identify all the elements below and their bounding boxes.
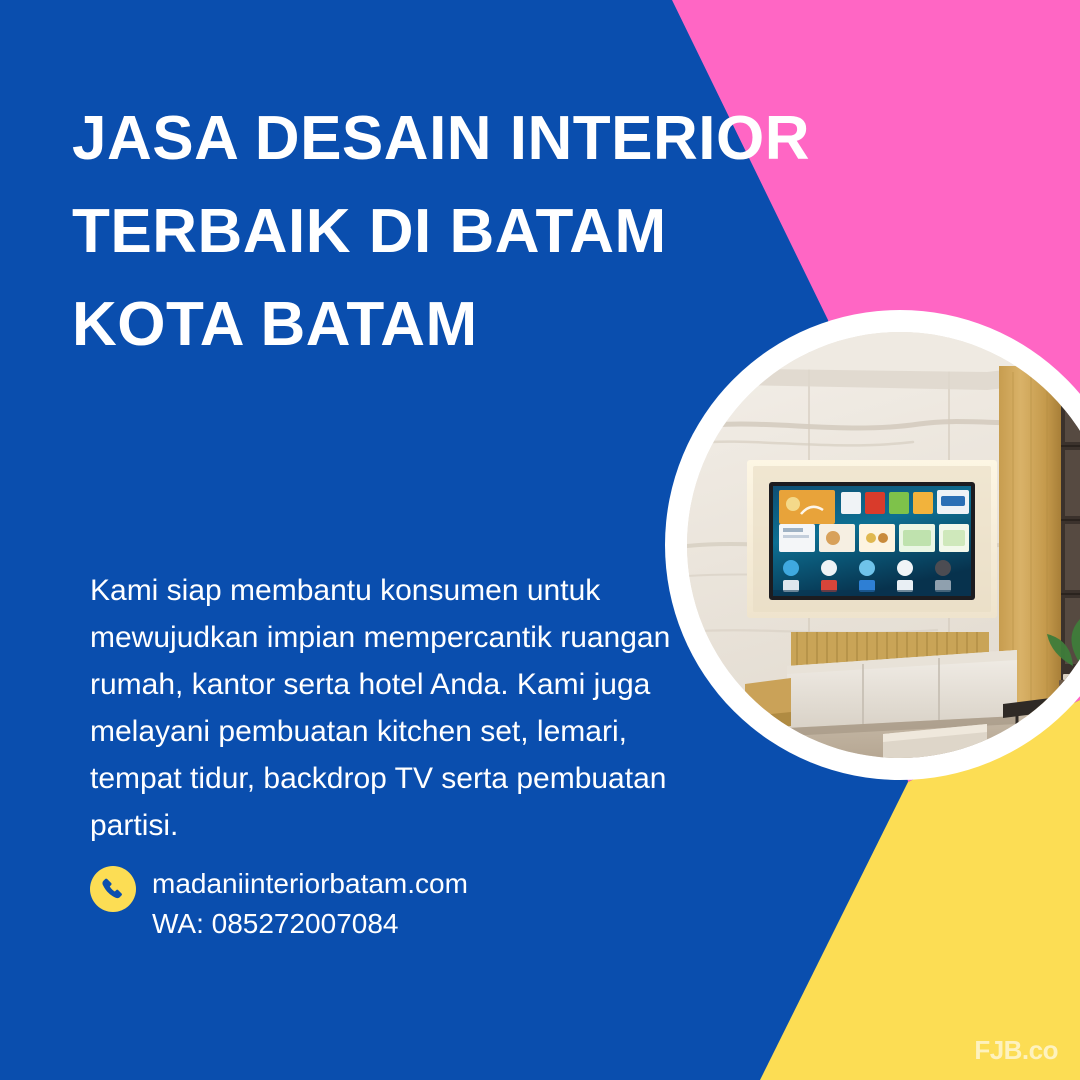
headline: JASA DESAIN INTERIOR TERBAIK DI BATAM KO… <box>72 92 832 371</box>
headline-line-2: TERBAIK DI BATAM <box>72 185 832 278</box>
interior-tv-backdrop-photo <box>687 332 1080 758</box>
contact-website[interactable]: madaniinteriorbatam.com <box>152 864 468 904</box>
phone-icon <box>90 866 136 912</box>
poster-canvas: JASA DESAIN INTERIOR TERBAIK DI BATAM KO… <box>0 0 1080 1080</box>
contact-whatsapp[interactable]: WA: 085272007084 <box>152 904 468 944</box>
headline-line-3: KOTA BATAM <box>72 278 832 371</box>
watermark-label: FJB.co <box>974 1035 1058 1066</box>
body-paragraph: Kami siap membantu konsumen untuk mewuju… <box>90 567 690 849</box>
headline-line-1: JASA DESAIN INTERIOR <box>72 92 832 185</box>
contact-details: madaniinteriorbatam.com WA: 085272007084 <box>152 864 468 944</box>
contact-block: madaniinteriorbatam.com WA: 085272007084 <box>90 864 468 944</box>
